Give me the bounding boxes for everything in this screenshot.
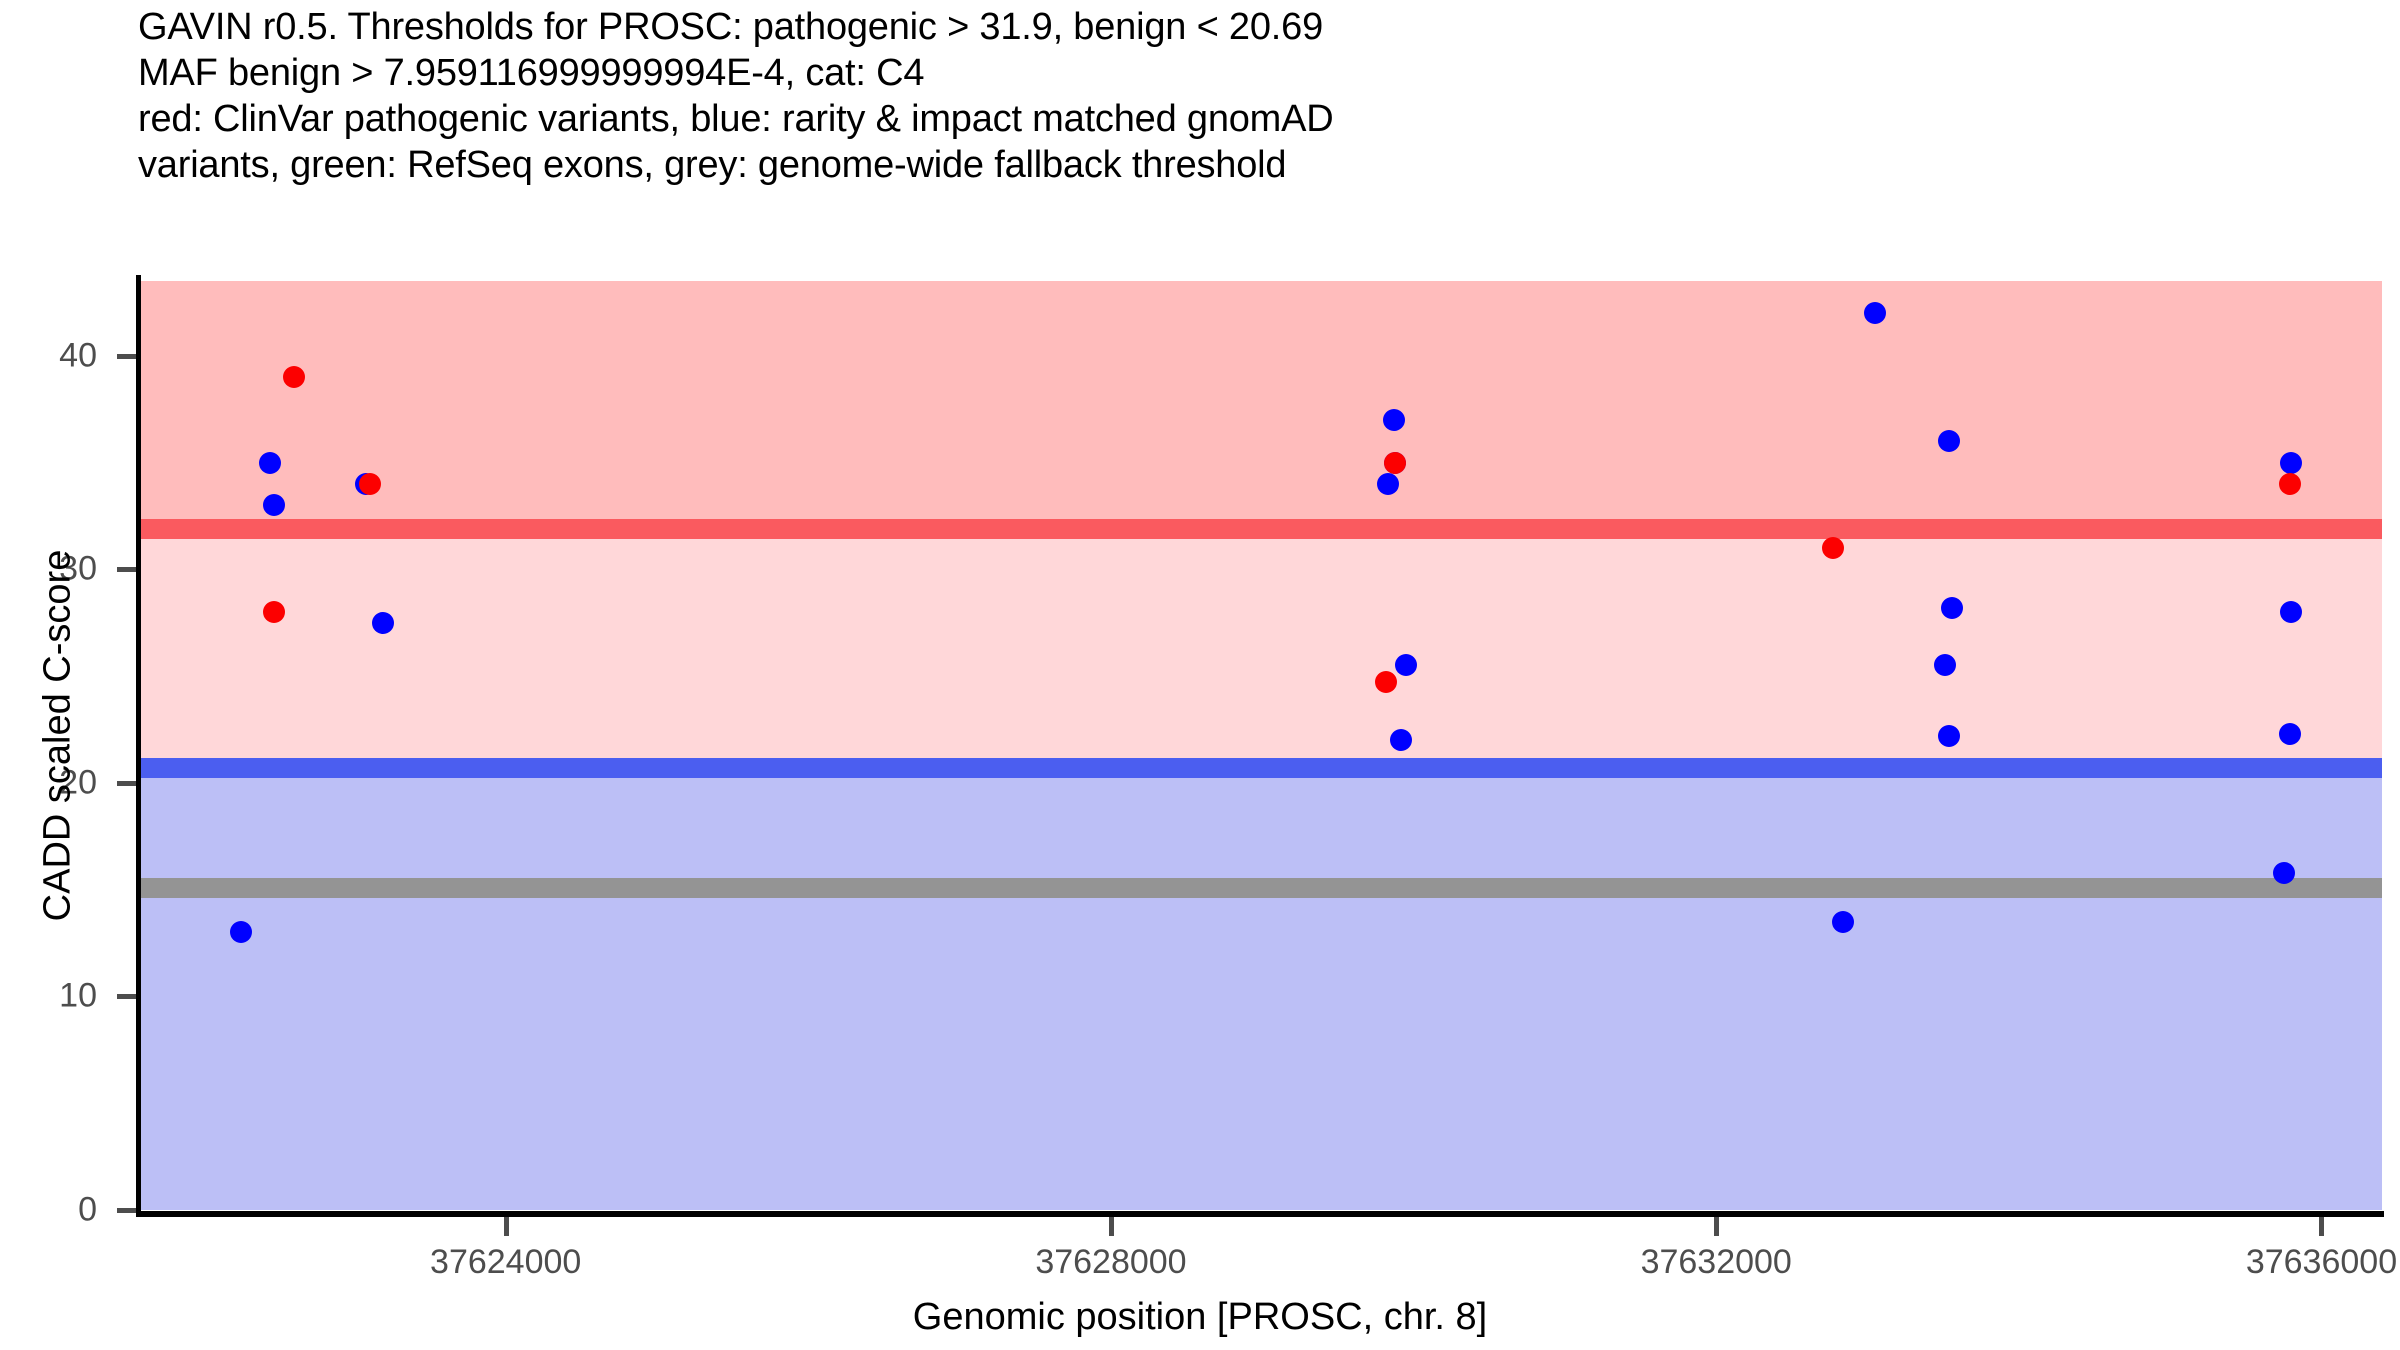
data-point [2280, 452, 2302, 474]
x-tick-mark [2319, 1217, 2324, 1236]
y-axis-line [136, 275, 141, 1215]
data-point [1941, 597, 1963, 619]
title-line-2: MAF benign > 7.959116999999994E-4, cat: … [138, 50, 2378, 96]
data-point [2279, 473, 2301, 495]
data-point [259, 452, 281, 474]
y-axis-title: CADD scaled C-score [37, 306, 80, 1166]
y-tick-mark [117, 1208, 136, 1213]
data-point [1934, 654, 1956, 676]
data-point [1384, 452, 1406, 474]
data-point [1864, 302, 1886, 324]
data-point [359, 473, 381, 495]
pathogenic-band [138, 281, 2382, 529]
data-point [2279, 723, 2301, 745]
x-tick-mark [1109, 1217, 1114, 1236]
pathogenic-threshold-line [138, 519, 2382, 539]
data-point [1832, 911, 1854, 933]
vous-band [138, 529, 2382, 768]
x-axis-title: Genomic position [PROSC, chr. 8] [0, 1296, 2400, 1339]
y-tick-mark [117, 567, 136, 572]
x-tick-label: 37628000 [911, 1243, 1311, 1282]
fallback-threshold-line [138, 878, 2382, 898]
y-tick-label: 0 [0, 1191, 97, 1230]
x-axis-line [136, 1211, 2384, 1217]
data-point [1938, 725, 1960, 747]
x-tick-label: 37624000 [306, 1243, 706, 1282]
title-line-3: red: ClinVar pathogenic variants, blue: … [138, 96, 2378, 142]
data-point [372, 612, 394, 634]
benign-threshold-line [138, 758, 2382, 778]
data-point [2273, 862, 2295, 884]
data-point [1383, 409, 1405, 431]
data-point [1822, 537, 1844, 559]
y-tick-mark [117, 354, 136, 359]
y-tick-mark [117, 781, 136, 786]
plot-panel [138, 281, 2382, 1210]
scatter-plot [138, 281, 2382, 1210]
x-tick-mark [1714, 1217, 1719, 1236]
x-tick-label: 37632000 [1516, 1243, 1916, 1282]
title-line-1: GAVIN r0.5. Thresholds for PROSC: pathog… [138, 4, 2378, 50]
title-line-4: variants, green: RefSeq exons, grey: gen… [138, 142, 2378, 188]
x-tick-mark [504, 1217, 509, 1236]
chart-title-block: GAVIN r0.5. Thresholds for PROSC: pathog… [138, 4, 2378, 188]
data-point [1377, 473, 1399, 495]
y-tick-mark [117, 994, 136, 999]
benign-band [138, 768, 2382, 1210]
data-point [283, 366, 305, 388]
x-tick-label: 37636000 [2121, 1243, 2400, 1282]
